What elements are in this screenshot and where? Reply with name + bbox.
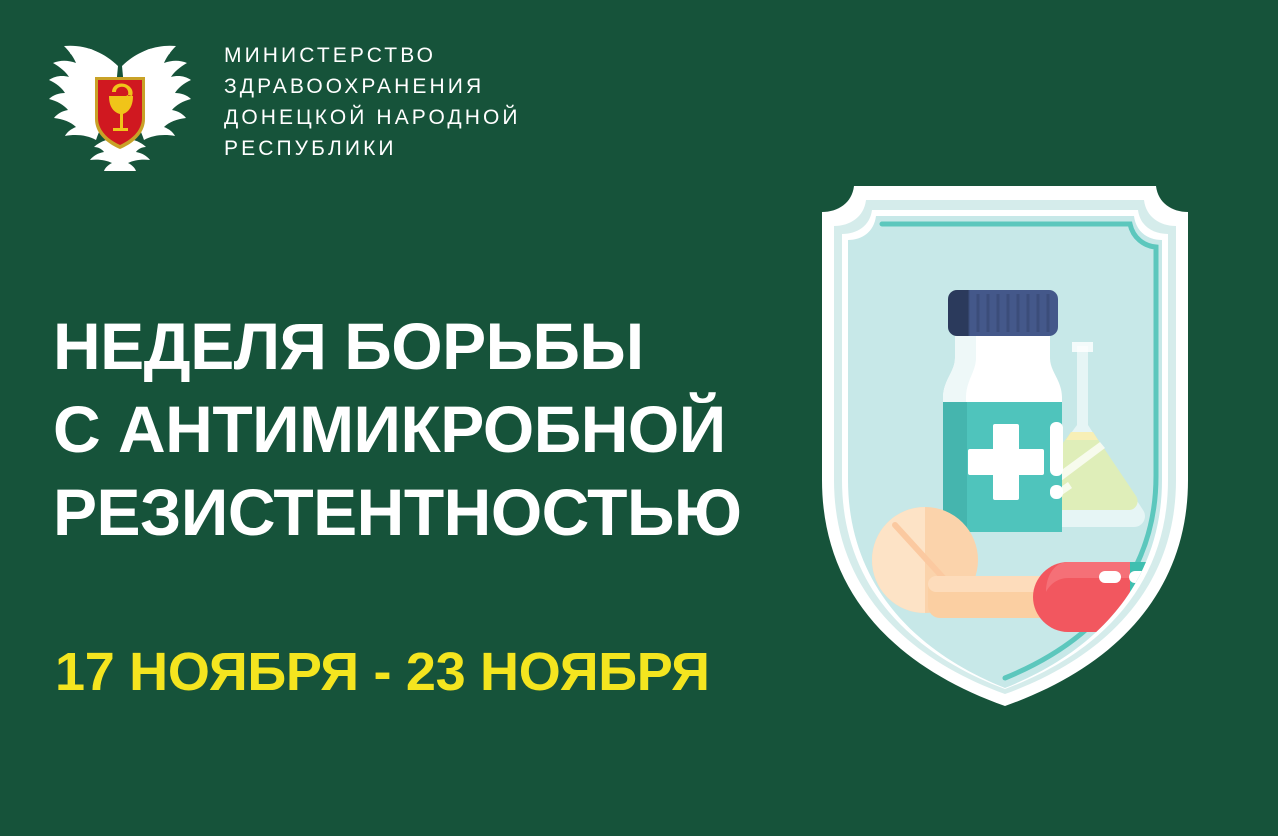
title-line-1: НЕДЕЛЯ БОРЬБЫ: [53, 305, 742, 388]
ministry-line-4: РЕСПУБЛИКИ: [224, 133, 521, 164]
ministry-name-block: МИНИСТЕРСТВО ЗДРАВООХРАНЕНИЯ ДОНЕЦКОЙ НА…: [224, 22, 521, 164]
bottle-cap: [948, 290, 1058, 336]
shield-graphic: [800, 180, 1210, 710]
ministry-header: МИНИСТЕРСТВО ЗДРАВООХРАНЕНИЯ ДОНЕЦКОЙ НА…: [40, 22, 521, 172]
title-line-2: С АНТИМИКРОБНОЙ: [53, 388, 742, 471]
poster-canvas: МИНИСТЕРСТВО ЗДРАВООХРАНЕНИЯ ДОНЕЦКОЙ НА…: [0, 0, 1278, 836]
page-title: НЕДЕЛЯ БОРЬБЫ С АНТИМИКРОБНОЙ РЕЗИСТЕНТН…: [53, 305, 742, 554]
antimicrobial-shield-illustration: [800, 180, 1210, 710]
ministry-line-2: ЗДРАВООХРАНЕНИЯ: [224, 71, 521, 102]
ministry-line-1: МИНИСТЕРСТВО: [224, 40, 521, 71]
date-range: 17 НОЯБРЯ - 23 НОЯБРЯ: [55, 640, 710, 704]
exclamation-icon: [1050, 422, 1063, 499]
title-line-3: РЕЗИСТЕНТНОСТЬЮ: [53, 471, 742, 554]
medicine-bottle-icon: [943, 290, 1063, 532]
dnr-health-ministry-emblem-icon: [40, 22, 200, 172]
ministry-line-3: ДОНЕЦКОЙ НАРОДНОЙ: [224, 102, 521, 133]
date-range-text: 17 НОЯБРЯ - 23 НОЯБРЯ: [55, 640, 710, 704]
